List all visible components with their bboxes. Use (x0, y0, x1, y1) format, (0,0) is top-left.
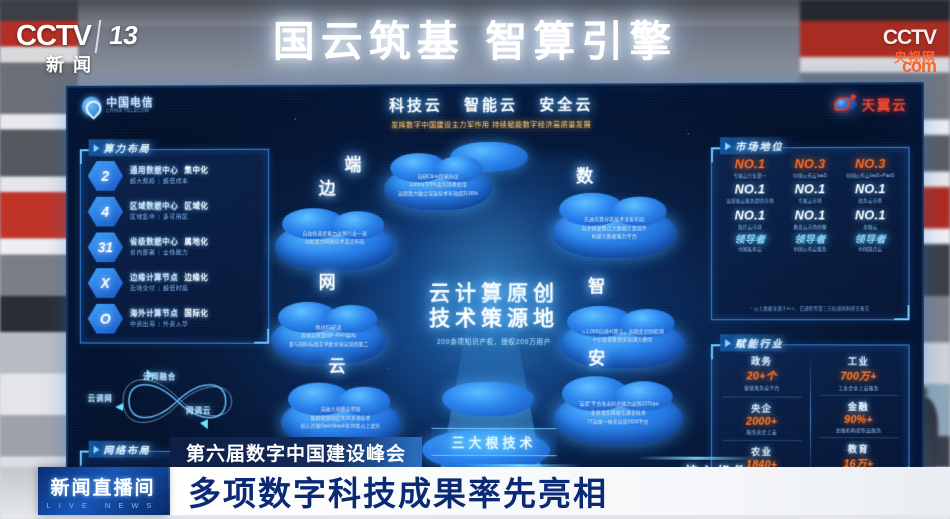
tree-center-title: 云计算原创 技术策源地 200余项知识产权，授权200万用户 (374, 282, 614, 346)
panel-market-title-bar: 市场地位 (720, 137, 793, 154)
market-cell-value: NO.1 (840, 184, 900, 198)
industry-name: 政务 (722, 354, 801, 367)
industry-value: 20+个 (722, 368, 801, 383)
market-cell-desc: 医疗云市场 (720, 224, 780, 230)
market-cell: NO.3中国公有云IaaS+PaaS (840, 158, 900, 179)
compute-badge: 4 (88, 196, 123, 228)
compute-tags: 超大规模|超低成本 (130, 178, 209, 186)
cloud-label-an: 安 (588, 344, 606, 369)
panel-market-title: 市场地位 (735, 138, 784, 153)
compute-mode: 区域化 (184, 201, 208, 210)
market-cell-desc: 专属云市场 (780, 199, 840, 205)
compute-tags: 区域集中|多可用区 (130, 213, 209, 221)
tree-title-line-1: 云计算原创 (374, 282, 614, 307)
compute-badge-value: 31 (98, 239, 113, 255)
market-cell-value: NO.3 (840, 158, 900, 172)
channel-name-cn: 新闻 (46, 51, 100, 77)
compute-name: 通用数据中心集中化 (130, 166, 209, 176)
cloud-body-bian: 自动化调度能力达到行业一流创新算力网络技术某点布局 (282, 231, 387, 248)
market-cell-value: NO.3 (780, 158, 840, 172)
cloud-label-shu: 数 (576, 162, 594, 187)
panel-compute-title: 算力布局 (103, 140, 150, 155)
market-cell-value: NO.1 (840, 209, 900, 223)
triangle-icon (94, 144, 100, 152)
screenshot-root: 国云筑基 智算引擎 中国电信 CHINA TELECOM 天翼云 科技云 智能云… (0, 0, 950, 519)
subtitle-strap: 第六届数字中国建设峰会 (170, 437, 422, 467)
cloud-body-wang: 推进6G研发首创边缘算网P-RAN架构参与国际标准正举数全球运营商第二 (278, 324, 379, 350)
market-cell: NO.3中国公有云IaaS (780, 158, 840, 179)
compute-name: 区域数据中心区域化 (130, 201, 209, 211)
program-logo: 新闻直播间 LIVE NEWS (38, 467, 168, 515)
channel-network-name: CCTV (16, 20, 91, 53)
compute-badge: O (88, 303, 123, 335)
market-cell-value: NO.1 (720, 209, 780, 223)
board-headline: 科技云 智能云 安全云 (327, 93, 657, 115)
market-cell-desc: 中国公有云IaaS+PaaS (840, 173, 900, 179)
channel-bug: CCTV 13 新闻 (16, 20, 145, 77)
market-cell-value: 领导者 (780, 235, 840, 246)
compute-text: 通用数据中心集中化超大规模|超低成本 (130, 166, 209, 186)
panel-industry-title: 赋能行业 (735, 335, 784, 350)
market-cell-value: NO.1 (780, 209, 840, 223)
industry-name: 央企 (722, 401, 801, 414)
market-cell-desc: 专属云行业第一 (720, 173, 780, 179)
channel-number: 13 (95, 20, 148, 53)
ctyun-name: 天翼云 (862, 94, 908, 113)
subtitle-text: 第六届数字中国建设峰会 (186, 439, 406, 466)
market-cell-value: NO.1 (780, 184, 840, 198)
market-cell-desc: 运营商云服务提供市场 (720, 199, 780, 205)
cloud-body-shu: 先进存算分离技术革新布局自主研发整合大数据计算组件构建大数据能力平台 (560, 217, 670, 243)
compute-tags: 近场交付|超低时延 (130, 285, 209, 293)
compute-mode: 集中化 (184, 166, 208, 175)
industry-desc: 省级政务云平台 (722, 384, 801, 391)
compute-row: 2通用数据中心集中化超大规模|超低成本 (88, 158, 262, 194)
market-cell-desc: 金融云 (840, 224, 900, 230)
headline-part-2: 智能云 (464, 97, 518, 114)
compute-badge-value: 2 (102, 168, 110, 184)
compute-name: 省级数据中心属地化 (130, 237, 209, 247)
panel-compute-layout: 算力布局 2通用数据中心集中化超大规模|超低成本4区域数据中心区域化区域集中|多… (80, 149, 269, 344)
industry-name: 金融 (819, 400, 899, 413)
cloud-node-shu: 数 先进存算分离技术革新布局自主研发整合大数据计算组件构建大数据能力平台 (552, 208, 677, 258)
lower-third: 第六届数字中国建设峰会 多项数字科技成果率先亮相 新闻直播间 LIVE NEWS (0, 431, 950, 519)
cloud-label-wang: 网 (319, 268, 337, 293)
market-cell-desc: 中国私有云 (720, 247, 780, 253)
compute-mode: 边缘化 (184, 273, 208, 282)
cloud-label-bian: 边 (319, 174, 337, 199)
market-cell: NO.1政务云市场 (840, 184, 900, 205)
ctyun-cloud-icon (834, 98, 856, 111)
panel-market-position: 市场地位 NO.1专属云行业第一NO.3中国公有云IaaSNO.3中国公有云Ia… (711, 147, 910, 321)
compute-badge: 31 (88, 231, 123, 263)
industry-item: 政务20+个省级政务云平台 (722, 354, 801, 394)
headline-part-1: 科技云 (389, 97, 443, 114)
market-cell-desc: 中国混合云 (840, 247, 900, 253)
cloud-body-yun: 突破大规模云资源集群管理调度等30多项技术核心开源OpenStack有30条以上… (288, 406, 393, 432)
compute-tags: 中资出海|外资入华 (130, 321, 209, 329)
cloud-node-bian: 边 自动化调度能力达到行业一流创新算力网络技术某点布局 (275, 222, 394, 270)
market-cell: NO.1教育云市场份额 (780, 209, 840, 230)
market-cell-value: 领导者 (720, 235, 780, 246)
industry-value: 700万+ (819, 369, 899, 384)
panel-industry-title-bar: 赋能行业 (720, 334, 793, 351)
compute-name: 海外计算节点国际化 (130, 309, 209, 319)
triangle-icon (725, 339, 731, 347)
market-cell: NO.1专属云市场 (780, 184, 840, 205)
cloud-network-label-right: 网调云 (186, 405, 211, 416)
compute-mode: 国际化 (184, 309, 208, 318)
industry-item: 工业700万+工业企业上云服务 (819, 354, 899, 394)
industry-value: 2000+ (722, 415, 801, 427)
china-telecom-logo: 中国电信 CHINA TELECOM (82, 96, 154, 116)
market-cell-value: 领导者 (840, 235, 900, 246)
compute-text: 省级数据中心属地化省内部署|全栈能力 (130, 237, 209, 257)
china-telecom-name-en: CHINA TELECOM (106, 110, 153, 115)
industry-desc: 工业企业上云服务 (819, 385, 899, 392)
program-name-en: LIVE NEWS (47, 501, 160, 510)
market-cell: 领导者中国公有云服务 (780, 235, 840, 253)
industry-name: 工业 (819, 354, 899, 367)
market-cell: NO.1金融云 (840, 209, 900, 230)
market-cell-value: NO.1 (720, 158, 780, 172)
tree-title-line-2: 技术策源地 (374, 307, 614, 332)
headline-strap: 多项数字科技成果率先亮相 (170, 467, 950, 515)
compute-text: 海外计算节点国际化中资出海|外资入华 (130, 309, 209, 329)
compute-row-list: 2通用数据中心集中化超大规模|超低成本4区域数据中心区域化区域集中|多可用区31… (88, 158, 262, 337)
cctv-com-watermark: CCTV 央视网 com (883, 26, 936, 77)
board-headline-group: 科技云 智能云 安全云 发挥数字中国建设主力军作用 持续赋能数字经济高质量发展 (327, 93, 657, 130)
cloud-network-label-left: 云调网 (88, 393, 113, 404)
compute-badge-value: O (100, 311, 111, 327)
watermark-com: com (883, 56, 936, 77)
compute-badge-value: X (101, 275, 110, 291)
compute-badge: X (88, 267, 123, 299)
market-note: * 以上数据来源于IDC、信通院等第三方权威机构研究报告 (720, 306, 900, 312)
compute-mode: 属地化 (184, 237, 208, 246)
market-cell: NO.1运营商云服务提供市场 (720, 184, 780, 205)
market-cell-value: NO.1 (720, 184, 780, 198)
cloud-node-duan: 端 自研Clink传输协议100ms下5%丢包场景使用远程算力融合渲染技术有效提… (384, 166, 492, 210)
compute-name: 边缘计算节点边缘化 (130, 273, 209, 283)
compute-text: 边缘计算节点边缘化近场交付|超低时延 (130, 273, 209, 293)
cloud-label-duan: 端 (345, 150, 363, 175)
ctyun-logo: 天翼云 (834, 94, 907, 113)
compute-tags: 省内部署|全栈能力 (130, 249, 209, 257)
market-cell-desc: 中国公有云服务 (780, 247, 840, 253)
industry-value: 90%+ (819, 414, 899, 426)
triangle-icon (725, 142, 731, 150)
cloud-network-label-top: 云网融合 (143, 371, 177, 382)
headline-part-3: 安全云 (539, 97, 593, 114)
compute-row: 4区域数据中心区域化区域集中|多可用区 (88, 193, 262, 229)
cloud-body-an: “云堤”平台攻击防护能力达到15Tbps业界领先网络互通全技术IT运维一体全运营… (562, 402, 675, 428)
china-telecom-mark-icon (82, 97, 102, 117)
compute-row: X边缘计算节点边缘化近场交付|超低时延 (88, 265, 262, 301)
decorative-cloud (442, 382, 534, 416)
market-cell-desc: 政务云市场 (840, 198, 900, 204)
cloud-body-duan: 自研Clink传输协议100ms下5%丢包场景使用远程算力融合渲染技术有效提升3… (391, 174, 486, 200)
market-cell-desc: 中国公有云IaaS (780, 173, 840, 179)
market-cell: 领导者中国私有云 (720, 235, 780, 253)
cloud-label-yun: 云 (329, 352, 347, 377)
tree-title-sub: 200余项知识产权，授权200万用户 (374, 335, 614, 345)
compute-badge: 2 (88, 160, 123, 192)
market-cell: NO.1医疗云市场 (720, 209, 780, 230)
program-name-cn: 新闻直播间 (50, 473, 155, 500)
venue-banner-text: 国云筑基 智算引擎 (150, 2, 800, 74)
compute-badge-value: 4 (102, 204, 110, 220)
compute-text: 区域数据中心区域化区域集中|多可用区 (130, 201, 209, 221)
market-cell: NO.1专属云行业第一 (720, 158, 780, 179)
panel-compute-title-bar: 算力布局 (89, 139, 160, 156)
headline-text: 多项数字科技成果率先亮相 (188, 467, 608, 515)
compute-row: O海外计算节点国际化中资出海|外资入华 (88, 301, 262, 337)
compute-row: 31省级数据中心属地化省内部署|全栈能力 (88, 229, 262, 265)
market-cell-grid: NO.1专属云行业第一NO.3中国公有云IaaSNO.3中国公有云IaaS+Pa… (720, 158, 900, 253)
market-cell: 领导者中国混合云 (840, 235, 900, 253)
market-cell-desc: 教育云市场份额 (780, 224, 840, 230)
